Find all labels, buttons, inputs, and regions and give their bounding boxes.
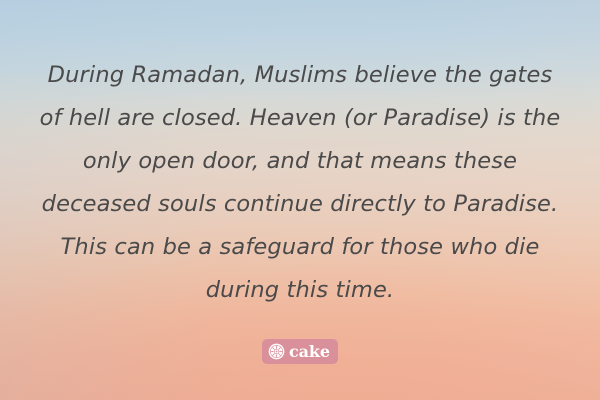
quote-line: only open door, and that means these (22, 140, 578, 183)
quote-card-canvas: During Ramadan, Muslims believe the gate… (0, 0, 600, 400)
cake-wordmark: cake (289, 343, 330, 360)
cake-mandala-icon (268, 343, 285, 360)
cake-logo-badge[interactable]: cake (262, 339, 338, 364)
quote-line: deceased souls continue directly to Para… (22, 183, 578, 226)
quote-line: During Ramadan, Muslims believe the gate… (22, 54, 578, 97)
quote-line: of hell are closed. Heaven (or Paradise)… (22, 97, 578, 140)
quote-line: This can be a safeguard for those who di… (22, 226, 578, 269)
quote-line: during this time. (22, 269, 578, 312)
quote-text-block: During Ramadan, Muslims believe the gate… (0, 54, 600, 312)
